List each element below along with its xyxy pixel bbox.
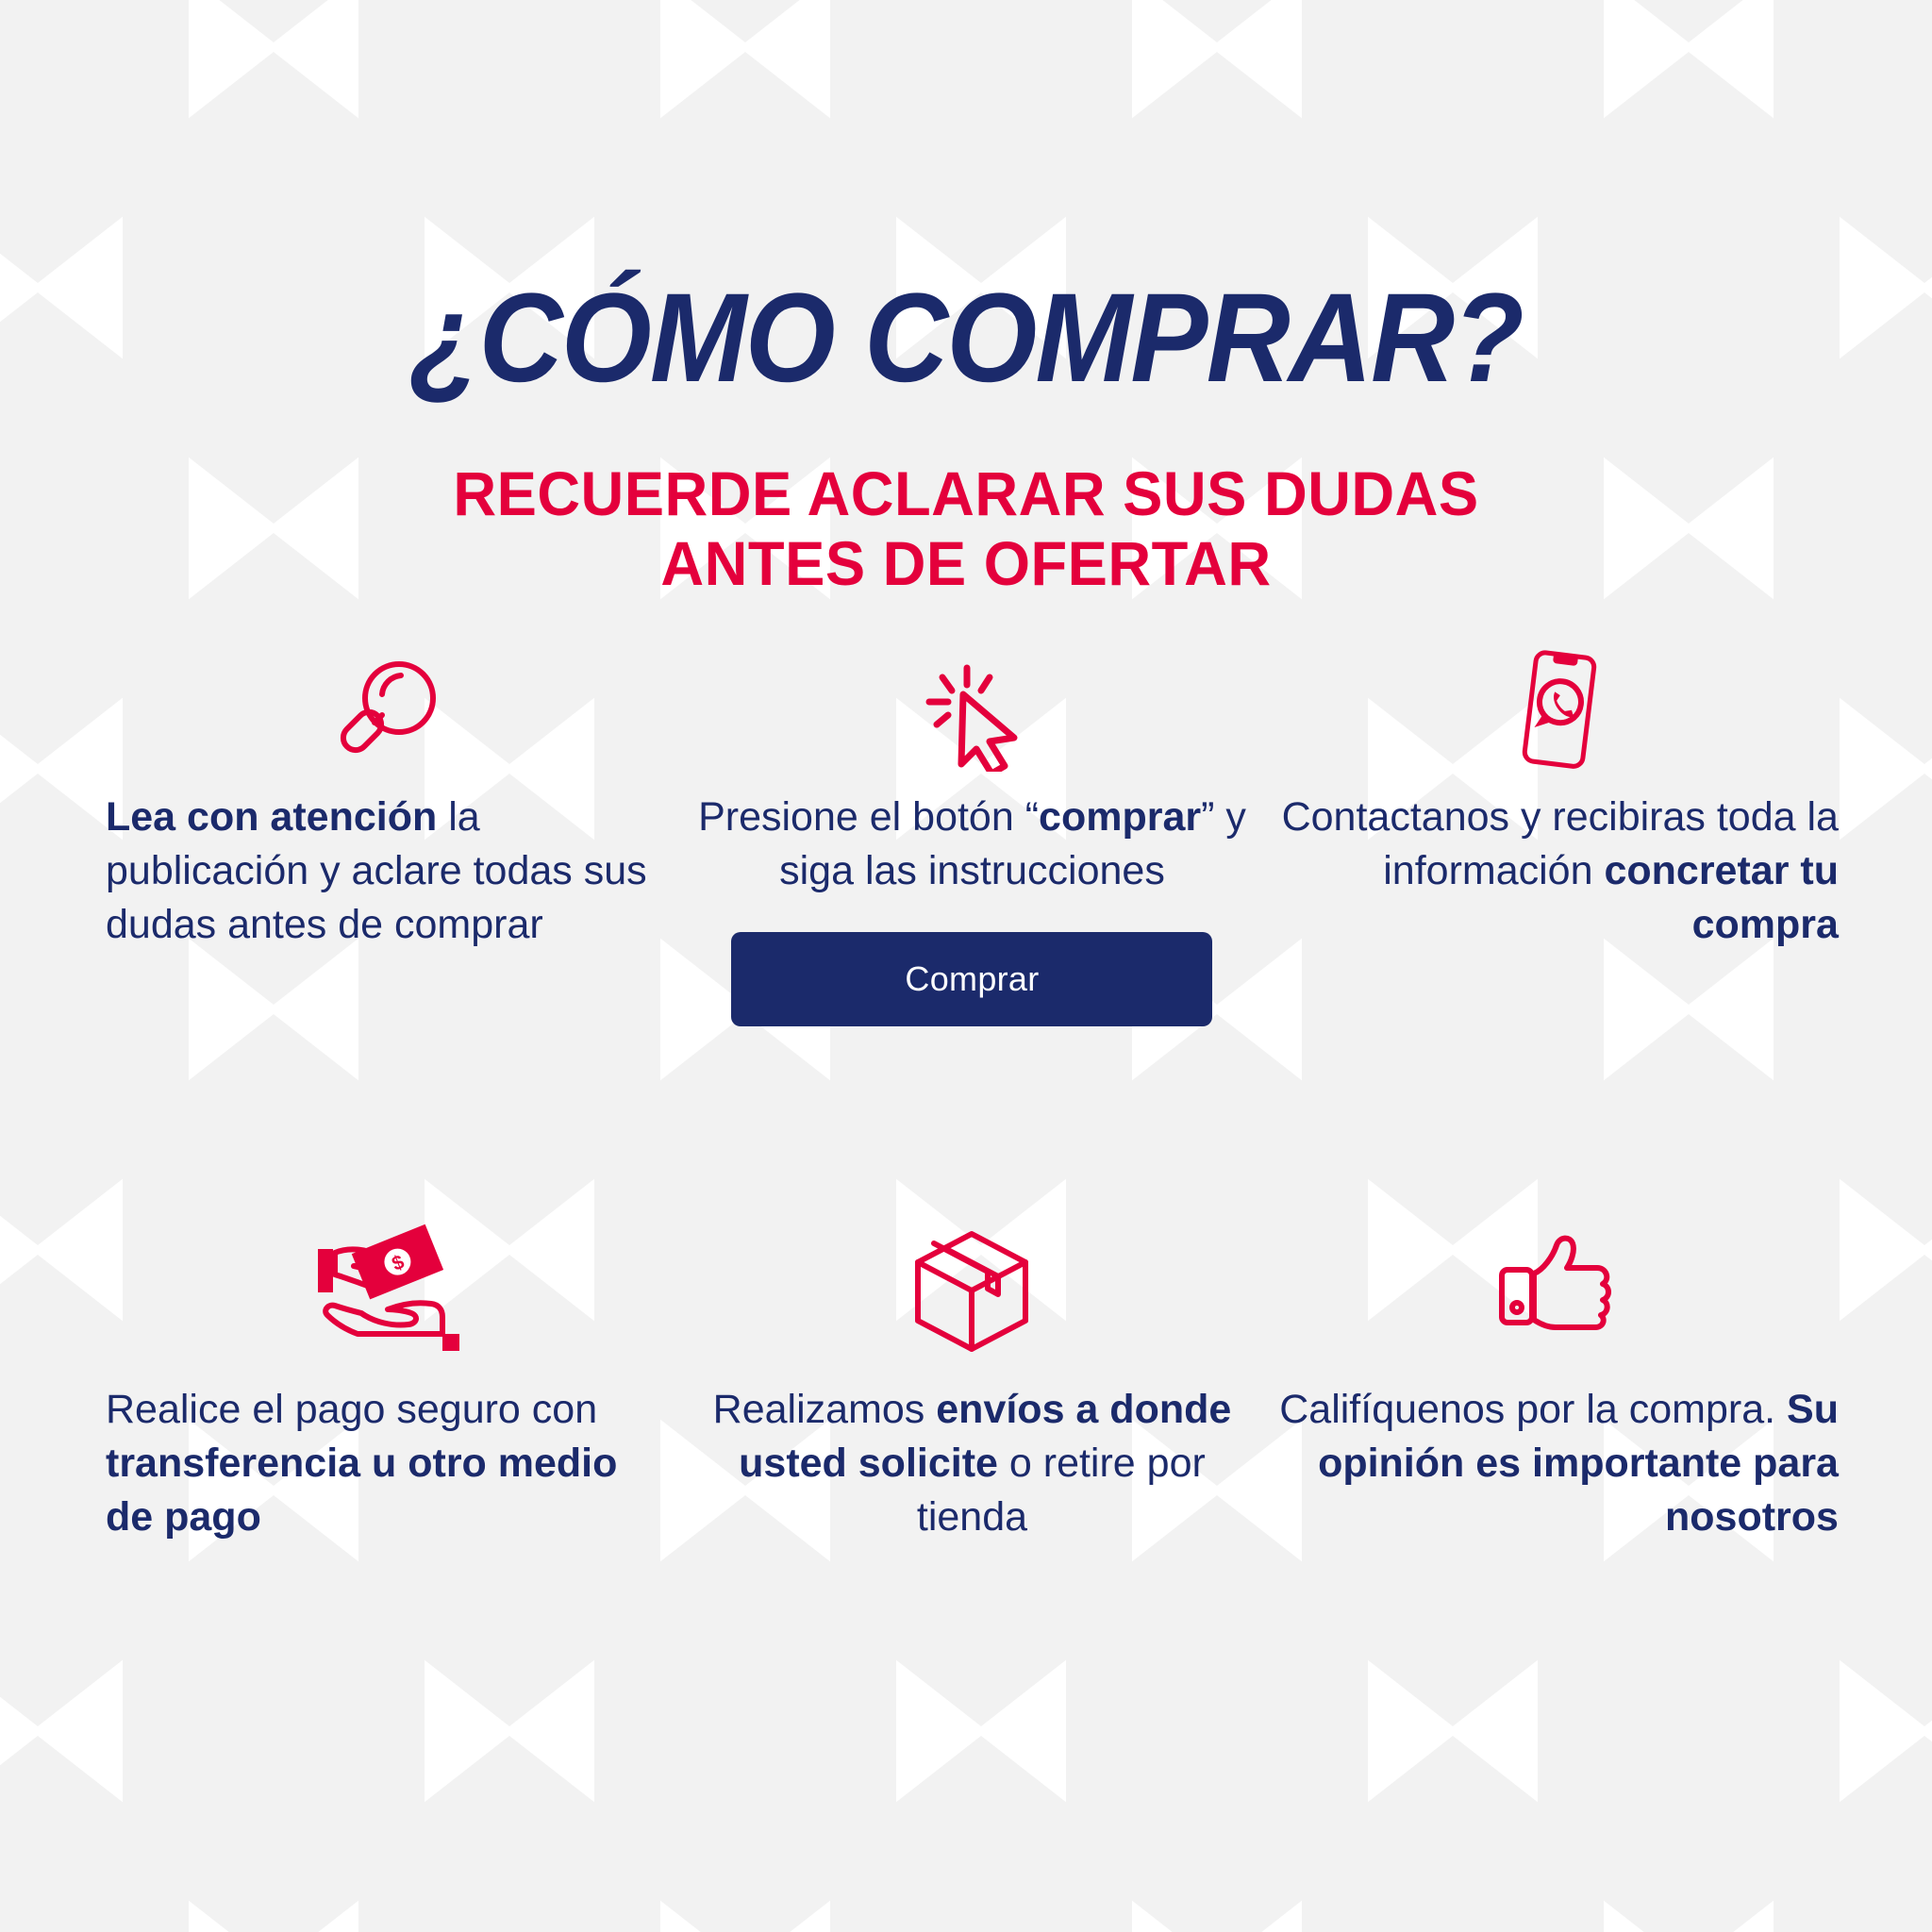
step-card-rate-us: Califíquenos por la compra. Su opinión e… bbox=[1265, 1215, 1852, 1545]
header-title-wrap: ¿CÓMO COMPRAR? bbox=[0, 275, 1932, 402]
icon-slot bbox=[692, 651, 1253, 772]
step-card-text: Realizamos envíos a donde usted solicite… bbox=[692, 1383, 1253, 1545]
package-box-icon bbox=[905, 1223, 1039, 1357]
subtitle-line-1: RECUERDE ACLARAR SUS DUDAS bbox=[39, 459, 1893, 529]
icon-slot: $ bbox=[106, 1215, 666, 1357]
step-card-text: Contactanos y recibiras toda la informac… bbox=[1278, 791, 1839, 953]
step-card-read-carefully: Lea con atención la publicación y aclare… bbox=[92, 651, 679, 1094]
icon-slot bbox=[106, 651, 666, 772]
subtitle-line-2: ANTES DE OFERTAR bbox=[39, 529, 1893, 599]
step-card-text: Realice el pago seguro con transferencia… bbox=[106, 1383, 666, 1545]
step-card-shipping: Realizamos envíos a donde usted solicite… bbox=[679, 1215, 1266, 1545]
thumbs-up-icon bbox=[1492, 1224, 1624, 1357]
steps-grid: Lea con atención la publicación y aclare… bbox=[92, 651, 1852, 1545]
header-subtitle-wrap: RECUERDE ACLARAR SUS DUDAS ANTES DE OFER… bbox=[0, 459, 1932, 599]
buy-button-wrap: Comprar bbox=[692, 932, 1253, 1026]
step-card-secure-payment: $ Realice el pago seguro con transferenc… bbox=[92, 1215, 679, 1545]
click-cursor-icon bbox=[916, 660, 1027, 772]
icon-slot bbox=[1278, 1215, 1839, 1357]
magnifier-icon bbox=[327, 655, 444, 772]
steps-row-bottom: $ Realice el pago seguro con transferenc… bbox=[92, 1215, 1852, 1545]
step-card-text: Lea con atención la publicación y aclare… bbox=[106, 791, 666, 953]
money-hands-icon: $ bbox=[307, 1223, 465, 1357]
step-card-press-buy: Presione el botón “comprar” y siga las i… bbox=[679, 651, 1266, 1094]
step-card-text: Califíquenos por la compra. Su opinión e… bbox=[1278, 1383, 1839, 1545]
step-card-contact-us: Contactanos y recibiras toda la informac… bbox=[1265, 651, 1852, 1094]
steps-row-top: Lea con atención la publicación y aclare… bbox=[92, 651, 1852, 1094]
icon-slot bbox=[1278, 651, 1839, 772]
step-card-text: Presione el botón “comprar” y siga las i… bbox=[692, 791, 1253, 898]
buy-button[interactable]: Comprar bbox=[731, 932, 1212, 1026]
icon-slot bbox=[692, 1215, 1253, 1357]
page-title: ¿CÓMO COMPRAR? bbox=[77, 275, 1855, 402]
whatsapp-phone-icon bbox=[1506, 647, 1611, 772]
